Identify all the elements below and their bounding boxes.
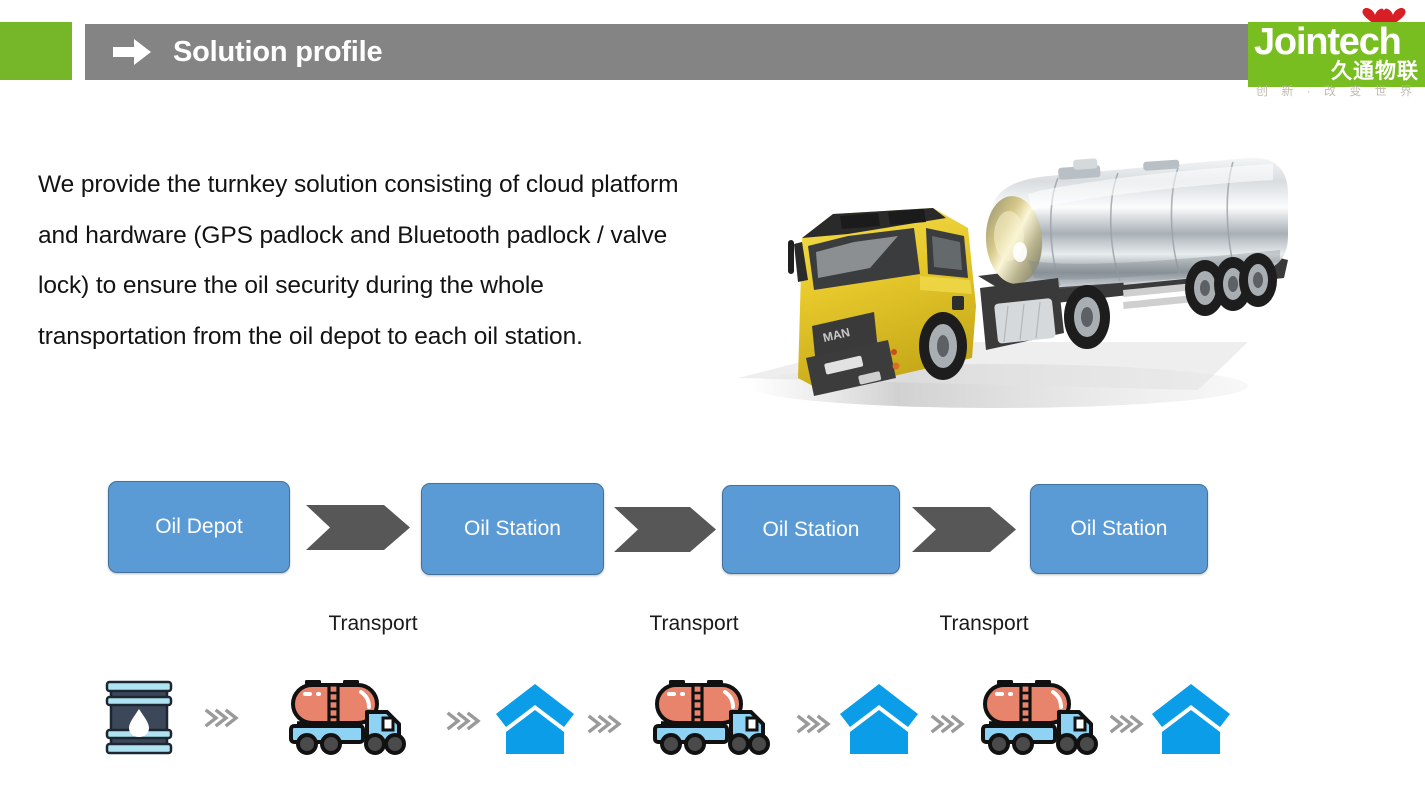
oil-barrel-icon (103, 678, 175, 758)
oil-station-house-icon (838, 680, 920, 758)
triple-chevron-icon (445, 706, 483, 736)
triple-chevron-icon (929, 709, 967, 739)
triple-chevron-icon (795, 709, 833, 739)
oil-station-house-icon (494, 680, 576, 758)
tanker-truck-icon (975, 676, 1099, 758)
triple-chevron-icon (1108, 709, 1146, 739)
triple-chevron-icon (586, 709, 624, 739)
supply-chain-icon-strip (0, 0, 1425, 791)
oil-station-house-icon (1150, 680, 1232, 758)
triple-chevron-icon (203, 703, 241, 733)
tanker-truck-icon (283, 676, 407, 758)
tanker-truck-icon (647, 676, 771, 758)
